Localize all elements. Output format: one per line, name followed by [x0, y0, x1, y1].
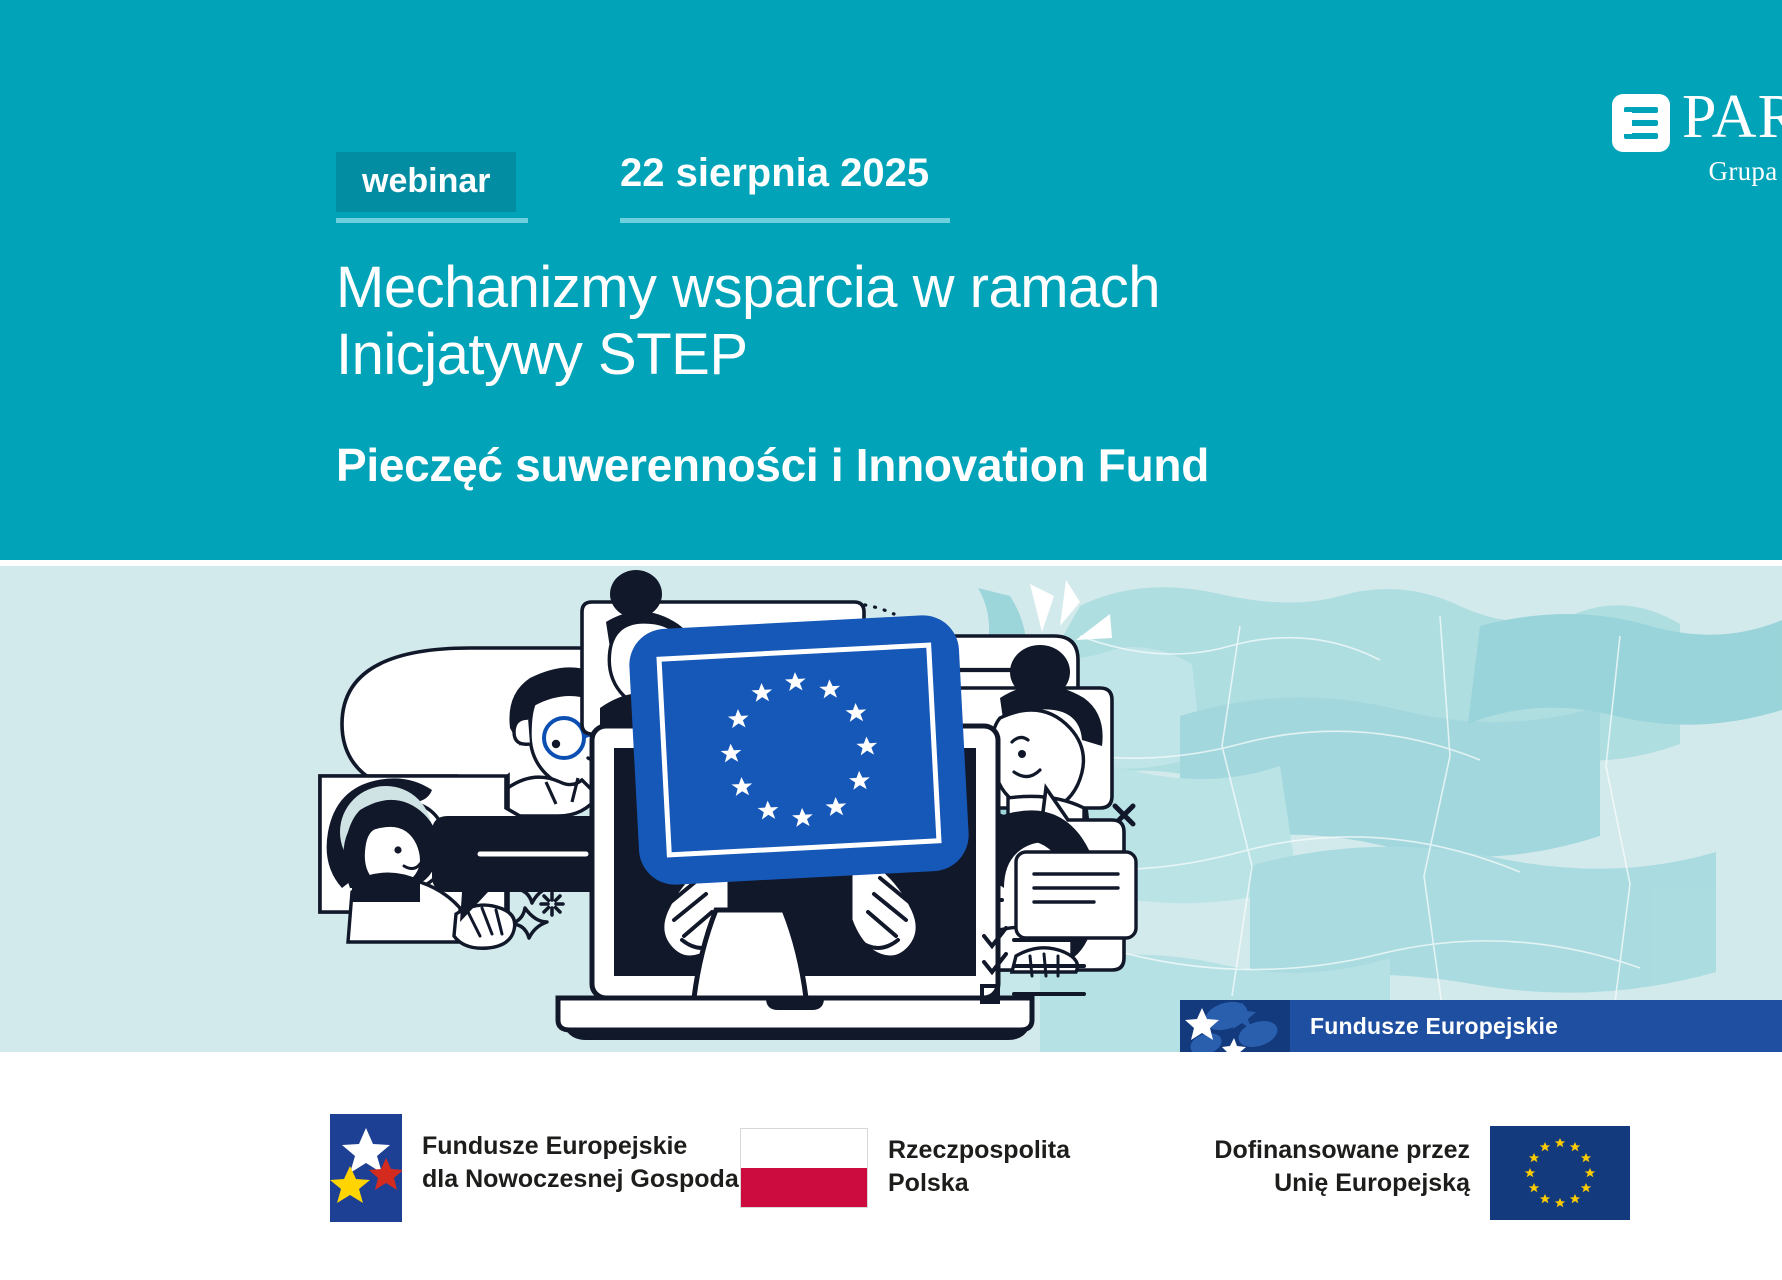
logo-fundusze-europejskie-label: Fundusze Europejskie dla Nowoczesnej Gos… — [422, 1130, 769, 1196]
footer-logo-bar: Fundusze Europejskie dla Nowoczesnej Gos… — [0, 1052, 1782, 1280]
logo-pl-line-2: Polska — [888, 1167, 1070, 1200]
logo-pl-line-1: Rzeczpospolita — [888, 1134, 1070, 1167]
event-date-underline — [620, 218, 950, 223]
fe-overlay-stars-icon — [1180, 1000, 1290, 1057]
page-subtitle: Pieczęć suwerenności i Innovation Fund — [336, 440, 1536, 491]
page-title: Mechanizmy wsparcia w ramach Inicjatywy … — [336, 254, 1436, 389]
event-date: 22 sierpnia 2025 — [620, 153, 929, 193]
logo-eu-label: Dofinansowane przez Unię Europejską — [1075, 1134, 1470, 1200]
header-banner: webinar 22 sierpnia 2025 Mechanizmy wspa… — [0, 0, 1782, 560]
logo-fe-line-2: dla Nowoczesnej Gospodarki — [422, 1163, 769, 1196]
webinar-illustration — [0, 566, 1782, 1052]
poland-flag-icon — [740, 1128, 868, 1208]
eu-flag-card — [628, 614, 971, 887]
parp-wordmark: PARP — [1682, 86, 1782, 148]
parp-tagline: Grupa PFR — [1680, 158, 1782, 185]
illustration-band — [0, 566, 1782, 1052]
logo-fe-line-1: Fundusze Europejskie — [422, 1130, 769, 1163]
fe-overlay-title: Fundusze Europejskie — [1310, 1015, 1558, 1038]
webinar-badge: webinar — [336, 152, 516, 212]
page-title-line-1: Mechanizmy wsparcia w ramach — [336, 254, 1436, 321]
parp-logo: PARP Grupa PFR — [1612, 92, 1782, 200]
webinar-badge-underline — [336, 218, 528, 223]
parp-mark-icon — [1612, 94, 1670, 152]
page-title-line-2: Inicjatywy STEP — [336, 321, 1436, 388]
logo-poland-label: Rzeczpospolita Polska — [888, 1134, 1070, 1200]
logo-eu-line-2: Unię Europejską — [1075, 1167, 1470, 1200]
header-content: webinar 22 sierpnia 2025 Mechanizmy wspa… — [336, 0, 1666, 560]
fe-overlay-top-band: Fundusze Europejskie — [1180, 1000, 1782, 1057]
funding-logos: Fundusze Europejskie dla Nowoczesnej Gos… — [330, 1114, 1470, 1224]
webinar-promo-card: webinar 22 sierpnia 2025 Mechanizmy wspa… — [0, 0, 1782, 1280]
doc-card-right — [1016, 852, 1136, 938]
eu-flag-icon — [1490, 1126, 1630, 1220]
fe-logo-icon — [330, 1114, 402, 1222]
poland-flag-white-stripe — [741, 1129, 867, 1168]
poland-flag-red-stripe — [741, 1168, 867, 1207]
logo-eu-line-1: Dofinansowane przez — [1075, 1134, 1470, 1167]
